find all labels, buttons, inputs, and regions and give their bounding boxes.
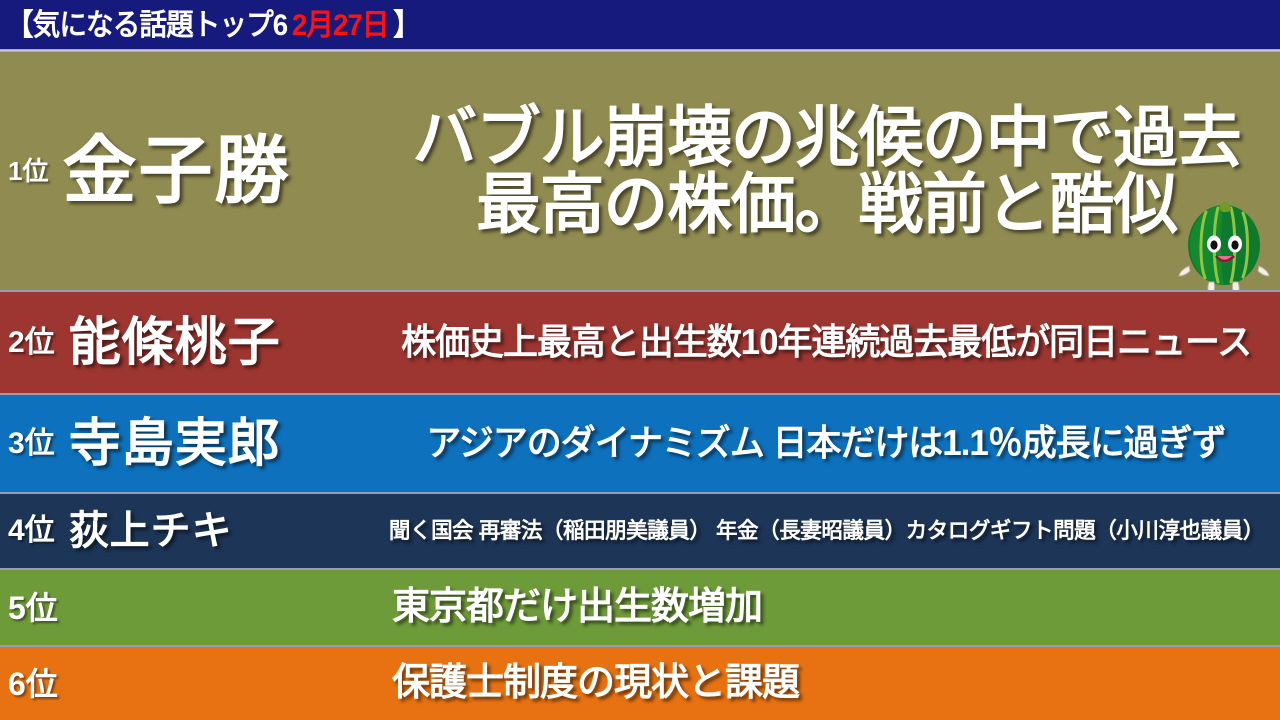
person-name-2: 能條桃子	[69, 317, 281, 369]
topic-cell-6: 保護士制度の現状と課題	[372, 647, 1280, 720]
topic-line-4-1: 聞く国会 再審法（稲田朋美議員） 年金（長妻昭議員）カタログギフト問題（小川淳也…	[389, 520, 1264, 542]
person-name-3: 寺島実郎	[69, 418, 281, 470]
topic-cell-4: 聞く国会 再審法（稲田朋美議員） 年金（長妻昭議員）カタログギフト問題（小川淳也…	[372, 494, 1280, 568]
rank-cell-3: 3位 寺島実郎	[0, 395, 372, 492]
titlebar-date: 2月27日	[292, 9, 389, 42]
topic-line-6-1: 保護士制度の現状と課題	[392, 664, 799, 703]
ranking-row-5[interactable]: 5位 東京都だけ出生数増加	[0, 568, 1280, 645]
rank-cell-5: 5位	[0, 570, 372, 645]
topic-line-2-1: 株価史上最高と出生数10年連続過去最低が同日ニュース	[401, 324, 1251, 361]
topic-cell-3: アジアのダイナミズム 日本だけは1.1％成長に過ぎず	[372, 395, 1280, 492]
topic-cell-5: 東京都だけ出生数増加	[372, 570, 1280, 645]
ranking-row-6[interactable]: 6位 保護士制度の現状と課題	[0, 645, 1280, 720]
person-name-1: 金子勝	[62, 134, 290, 208]
ranking-board: 【気になる話題トップ62月27日】 1位 金子勝 バブル崩壊の兆候の中で過去 最…	[0, 0, 1280, 720]
ranking-row-3[interactable]: 3位 寺島実郎 アジアのダイナミズム 日本だけは1.1％成長に過ぎず	[0, 393, 1280, 492]
ranking-row-2[interactable]: 2位 能條桃子 株価史上最高と出生数10年連続過去最低が同日ニュース	[0, 290, 1280, 393]
topic-line-1-2: 最高の株価。戦前と酷似	[476, 171, 1177, 238]
rank-number-2: 2位	[8, 328, 55, 358]
topic-cell-1: バブル崩壊の兆候の中で過去 最高の株価。戦前と酷似	[372, 52, 1280, 290]
titlebar: 【気になる話題トップ62月27日】	[0, 0, 1280, 52]
titlebar-title: 【気になる話題トップ6	[6, 9, 287, 42]
ranking-row-4[interactable]: 4位 荻上チキ 聞く国会 再審法（稲田朋美議員） 年金（長妻昭議員）カタログギフ…	[0, 492, 1280, 568]
rank-number-5: 5位	[8, 592, 58, 624]
rank-number-1: 1位	[8, 158, 48, 184]
rank-cell-2: 2位 能條桃子	[0, 292, 372, 393]
topic-cell-2: 株価史上最高と出生数10年連続過去最低が同日ニュース	[372, 292, 1280, 393]
rank-number-3: 3位	[8, 429, 55, 459]
topic-line-3-1: アジアのダイナミズム 日本だけは1.1％成長に過ぎず	[426, 425, 1225, 462]
topic-line-5-1: 東京都だけ出生数増加	[392, 588, 762, 627]
watermelon-character-icon	[1176, 188, 1272, 290]
rank-cell-6: 6位	[0, 647, 372, 720]
person-name-4: 荻上チキ	[69, 511, 233, 551]
rank-cell-4: 4位 荻上チキ	[0, 494, 372, 568]
titlebar-bracket-close: 】	[393, 9, 420, 42]
topic-line-1-1: バブル崩壊の兆候の中で過去	[412, 104, 1240, 171]
rank-number-4: 4位	[8, 516, 55, 546]
titlebar-text: 【気になる話題トップ62月27日】	[6, 11, 420, 41]
ranking-row-1[interactable]: 1位 金子勝 バブル崩壊の兆候の中で過去 最高の株価。戦前と酷似	[0, 52, 1280, 290]
rank-number-6: 6位	[8, 668, 58, 700]
rank-cell-1: 1位 金子勝	[0, 52, 372, 290]
